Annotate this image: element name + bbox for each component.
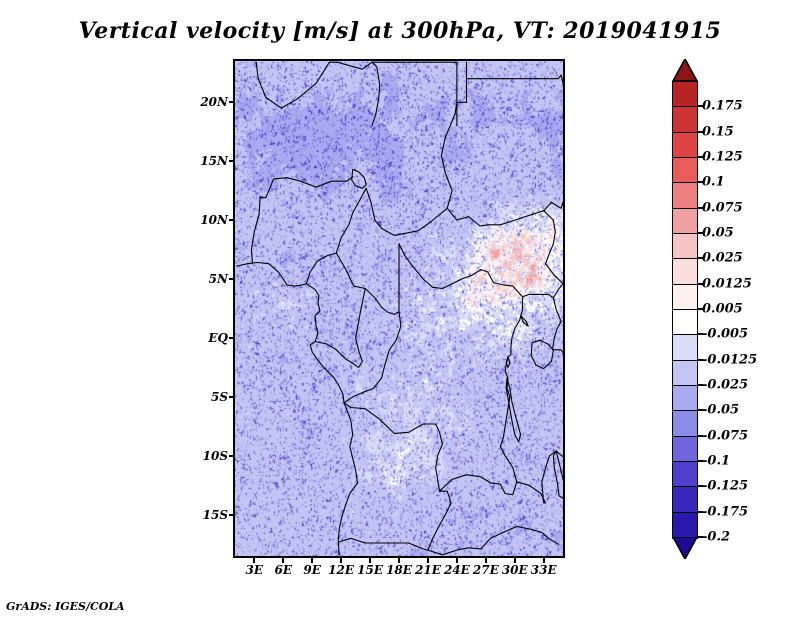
border-polyline bbox=[441, 102, 457, 208]
colorbar-tick-mark bbox=[698, 207, 703, 209]
colorbar-tick-mark bbox=[698, 105, 703, 107]
border-polyline bbox=[344, 403, 442, 491]
colorbar-tick-label: 0.025 bbox=[702, 251, 743, 266]
x-axis-tick-mark bbox=[514, 558, 516, 563]
colorbar-tick-label: 0.1 bbox=[702, 175, 725, 190]
y-axis-tick-mark bbox=[229, 278, 234, 280]
colorbar-swatch bbox=[672, 233, 698, 260]
y-axis-tick-mark bbox=[229, 514, 234, 516]
border-polyline bbox=[260, 177, 353, 198]
border-polyline bbox=[336, 244, 399, 315]
x-axis-tick-mark bbox=[282, 558, 284, 563]
y-axis-tick-mark bbox=[229, 396, 234, 398]
colorbar-swatch bbox=[672, 512, 698, 539]
x-axis-tick-mark bbox=[543, 558, 545, 563]
border-polyline bbox=[457, 62, 467, 102]
country-borders-overlay bbox=[235, 61, 563, 556]
colorbar-swatch bbox=[672, 106, 698, 133]
colorbar bbox=[672, 59, 698, 559]
border-polyline bbox=[552, 279, 563, 350]
colorbar-tick-mark bbox=[698, 460, 703, 462]
x-axis-tick-label: 30E bbox=[502, 563, 528, 577]
x-axis-tick-label: 3E bbox=[246, 563, 264, 577]
colorbar-tick-label: -0.1 bbox=[702, 454, 730, 469]
footer-credit: GrADS: IGES/COLA bbox=[6, 600, 125, 613]
x-axis-tick-mark bbox=[456, 558, 458, 563]
x-axis-tick-label: 9E bbox=[303, 563, 321, 577]
border-polyline bbox=[521, 316, 529, 327]
plot-canvas: Vertical velocity [m/s] at 300hPa, VT: 2… bbox=[0, 0, 800, 618]
colorbar-swatch bbox=[672, 334, 698, 361]
x-axis-tick-mark bbox=[340, 558, 342, 563]
colorbar-tick-mark bbox=[698, 333, 703, 335]
border-polyline bbox=[428, 491, 451, 550]
border-polyline bbox=[352, 169, 367, 188]
colorbar-cap-top bbox=[672, 59, 698, 81]
colorbar-tick-label: -0.2 bbox=[702, 530, 730, 545]
colorbar-swatch bbox=[672, 284, 698, 311]
border-polyline bbox=[523, 294, 554, 298]
x-axis-tick-label: 27E bbox=[473, 563, 499, 577]
border-polyline bbox=[440, 432, 517, 494]
colorbar-cap-bottom bbox=[672, 537, 698, 559]
x-axis-tick-mark bbox=[398, 558, 400, 563]
x-axis-tick-label: 24E bbox=[444, 563, 470, 577]
x-axis-tick-label: 12E bbox=[328, 563, 354, 577]
colorbar-tick-mark bbox=[698, 283, 703, 285]
colorbar-tick-label: -0.0125 bbox=[702, 352, 757, 367]
colorbar-swatch bbox=[672, 132, 698, 159]
colorbar-swatch bbox=[672, 410, 698, 437]
border-polyline bbox=[344, 312, 401, 403]
map-plot-area bbox=[233, 59, 565, 558]
y-axis-tick-mark bbox=[229, 337, 234, 339]
colorbar-swatch bbox=[672, 360, 698, 387]
colorbar-tick-label: -0.175 bbox=[702, 504, 748, 519]
x-axis-tick-mark bbox=[253, 558, 255, 563]
y-axis-tick-label: 10N bbox=[188, 213, 228, 227]
colorbar-tick-mark bbox=[698, 181, 703, 183]
colorbar-tick-mark bbox=[698, 536, 703, 538]
x-axis-tick-mark bbox=[311, 558, 313, 563]
border-polyline bbox=[544, 211, 563, 284]
colorbar-tick-label: 0.05 bbox=[702, 226, 734, 241]
colorbar-swatch bbox=[672, 486, 698, 513]
colorbar-tick-mark bbox=[698, 511, 703, 513]
y-axis-tick-label: 10S bbox=[188, 449, 228, 463]
x-axis-tick-label: 18E bbox=[386, 563, 412, 577]
border-polyline bbox=[399, 244, 488, 289]
colorbar-tick-mark bbox=[698, 156, 703, 158]
x-axis-tick-mark bbox=[369, 558, 371, 563]
x-axis-tick-label: 21E bbox=[415, 563, 441, 577]
colorbar-tick-mark bbox=[698, 232, 703, 234]
colorbar-tick-label: -0.075 bbox=[702, 428, 748, 443]
x-axis-tick-label: 15E bbox=[357, 563, 383, 577]
border-polyline bbox=[561, 75, 563, 154]
colorbar-tick-mark bbox=[698, 257, 703, 259]
x-axis-tick-mark bbox=[427, 558, 429, 563]
border-polyline bbox=[339, 538, 428, 550]
y-axis-tick-mark bbox=[229, 455, 234, 457]
border-polyline bbox=[315, 289, 365, 368]
y-axis-tick-label: 15N bbox=[188, 154, 228, 168]
colorbar-tick-mark bbox=[698, 384, 703, 386]
colorbar-tick-label: 0.15 bbox=[702, 124, 734, 139]
border-polyline bbox=[428, 527, 558, 555]
y-axis-tick-label: 15S bbox=[188, 508, 228, 522]
colorbar-swatch bbox=[672, 208, 698, 235]
colorbar-swatch bbox=[672, 81, 698, 108]
colorbar-tick-mark bbox=[698, 359, 703, 361]
border-polyline bbox=[467, 75, 562, 79]
colorbar-swatch bbox=[672, 258, 698, 285]
colorbar-tick-mark bbox=[698, 435, 703, 437]
y-axis-tick-label: 20N bbox=[188, 95, 228, 109]
colorbar-tick-mark bbox=[698, 485, 703, 487]
border-polyline bbox=[531, 340, 553, 368]
border-polyline bbox=[306, 284, 357, 555]
border-polyline bbox=[237, 263, 307, 287]
y-axis-tick-label: EQ bbox=[188, 331, 228, 345]
colorbar-tick-label: -0.025 bbox=[702, 378, 748, 393]
border-polyline bbox=[366, 188, 447, 235]
colorbar-tick-label: 0.005 bbox=[702, 302, 743, 317]
border-polyline bbox=[306, 188, 366, 283]
colorbar-tick-label: -0.125 bbox=[702, 479, 748, 494]
border-polyline bbox=[372, 62, 457, 126]
border-polyline bbox=[256, 62, 329, 108]
colorbar-tick-label: -0.05 bbox=[702, 403, 739, 418]
colorbar-swatch bbox=[672, 461, 698, 488]
border-polyline bbox=[330, 62, 373, 69]
colorbar-swatch bbox=[672, 385, 698, 412]
colorbar-tick-mark bbox=[698, 131, 703, 133]
colorbar-swatch bbox=[672, 182, 698, 209]
colorbar-tick-label: 0.0125 bbox=[702, 276, 752, 291]
border-polyline bbox=[488, 167, 563, 225]
page-title: Vertical velocity [m/s] at 300hPa, VT: 2… bbox=[0, 18, 800, 44]
border-polyline bbox=[251, 198, 260, 263]
y-axis-tick-mark bbox=[229, 219, 234, 221]
border-polyline bbox=[553, 350, 563, 374]
border-polyline bbox=[372, 62, 380, 126]
border-polyline bbox=[517, 451, 557, 503]
x-axis-tick-label: 33E bbox=[531, 563, 557, 577]
colorbar-tick-mark bbox=[698, 409, 703, 411]
y-axis-tick-label: 5N bbox=[188, 272, 228, 286]
colorbar-swatch bbox=[672, 157, 698, 184]
colorbar-tick-label: 0.075 bbox=[702, 200, 743, 215]
border-polyline bbox=[447, 208, 488, 226]
y-axis-tick-mark bbox=[229, 160, 234, 162]
y-axis-tick-label: 5S bbox=[188, 390, 228, 404]
y-axis-tick-mark bbox=[229, 101, 234, 103]
colorbar-swatch bbox=[672, 436, 698, 463]
x-axis-tick-mark bbox=[485, 558, 487, 563]
colorbar-tick-label: -0.005 bbox=[702, 327, 748, 342]
colorbar-swatch bbox=[672, 309, 698, 336]
colorbar-tick-mark bbox=[698, 308, 703, 310]
border-polyline bbox=[553, 451, 563, 498]
colorbar-tick-label: 0.125 bbox=[702, 150, 743, 165]
colorbar-tick-label: 0.175 bbox=[702, 99, 743, 114]
x-axis-tick-label: 6E bbox=[274, 563, 292, 577]
border-polyline bbox=[488, 272, 523, 432]
